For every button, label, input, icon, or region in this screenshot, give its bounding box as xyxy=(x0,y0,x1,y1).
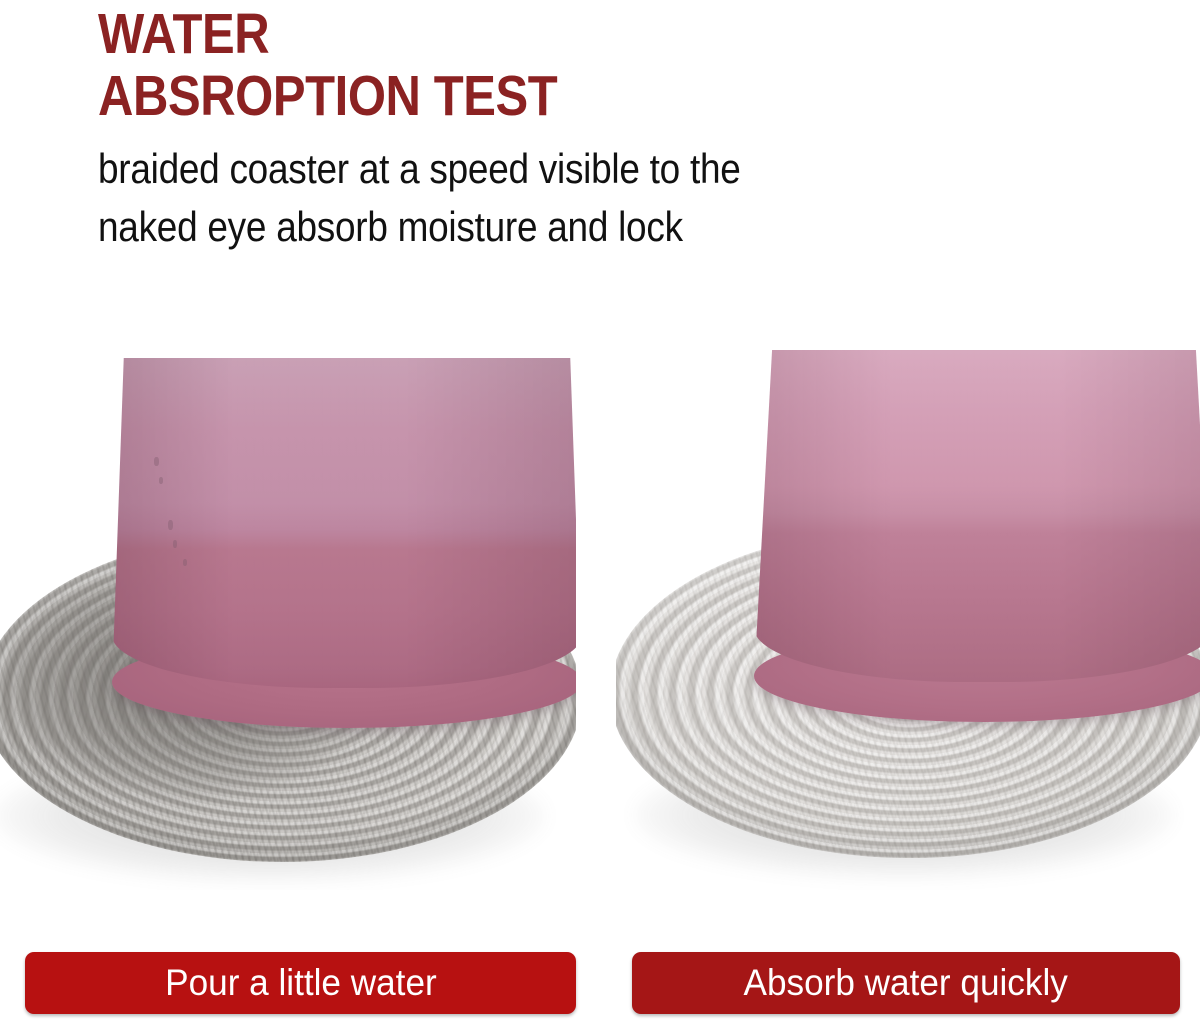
page-title-line-1: WATER xyxy=(98,4,872,64)
caption-absorb-water-quickly: Absorb water quickly xyxy=(632,952,1180,1014)
cup-body xyxy=(112,358,576,688)
cup-body xyxy=(754,350,1200,682)
photo-left-scene xyxy=(0,350,576,890)
caption-label: Pour a little water xyxy=(165,963,437,1003)
product-photo-before xyxy=(0,350,576,890)
cup-speck xyxy=(168,520,173,530)
caption-pour-a-little-water: Pour a little water xyxy=(25,952,576,1014)
caption-label: Absorb water quickly xyxy=(744,963,1068,1003)
photo-right-scene xyxy=(616,350,1200,890)
cup-speck xyxy=(154,457,159,466)
pink-cup xyxy=(754,350,1200,682)
pink-cup xyxy=(112,358,576,688)
cup-speck xyxy=(159,477,163,484)
page-title-line-2: ABSROPTION TEST xyxy=(98,66,872,126)
header-block: WATER ABSROPTION TEST braided coaster at… xyxy=(98,4,998,256)
product-photo-after xyxy=(616,350,1200,890)
cup-speck xyxy=(173,540,177,548)
subtitle-line-1: braided coaster at a speed visible to th… xyxy=(98,140,890,198)
subtitle-line-2: naked eye absorb moisture and lock xyxy=(98,198,890,256)
cup-speck xyxy=(183,559,187,566)
subtitle-group: braided coaster at a speed visible to th… xyxy=(98,140,998,256)
